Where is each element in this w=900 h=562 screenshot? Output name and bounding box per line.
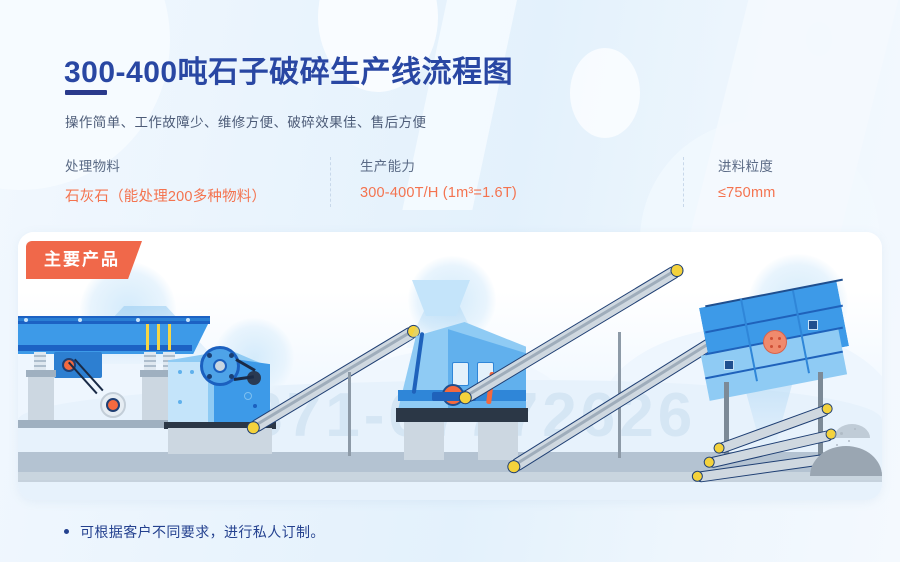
screen-exciter-bolt [770, 337, 773, 340]
spec-value: 300-400T/H (1m³=1.6T) [360, 185, 517, 201]
impact-panel [452, 362, 469, 386]
page-root: 300-400吨石子破碎生产线流程图 操作简单、工作故障少、维修方便、破碎效果佳… [0, 0, 900, 562]
feeder-pedestal-cap [26, 370, 56, 377]
feeder-bolt [136, 318, 140, 322]
feeder-idler-pulley [106, 398, 120, 412]
grizzly-bar [157, 324, 160, 350]
jaw-ring [244, 392, 252, 400]
screen-exciter-bolt [770, 345, 773, 348]
dust-speck [848, 440, 850, 442]
spec-label: 生产能力 [360, 155, 517, 175]
screen-exciter [763, 330, 787, 354]
jaw-flywheel-bolt [229, 353, 234, 358]
spec-row: 处理物料 石灰石（能处理200多种物料） 生产能力 300-400T/H (1m… [0, 155, 900, 210]
feeder-bolt [186, 318, 190, 322]
spec-label: 处理物料 [65, 155, 266, 175]
spec-item-material: 处理物料 石灰石（能处理200多种物料） [65, 155, 266, 206]
grizzly-bar [146, 324, 149, 350]
jaw-bolt [178, 370, 182, 374]
screen-sensor-box [808, 320, 818, 330]
dust-speck [840, 432, 843, 435]
page-subtitle: 操作简单、工作故障少、维修方便、破碎效果佳、售后方便 [65, 111, 426, 131]
screen-sensor-box [724, 360, 734, 370]
jaw-flywheel-bolt [207, 353, 212, 358]
jaw-bolt [178, 400, 182, 404]
title-underline [65, 90, 107, 95]
impact-pier [404, 422, 444, 460]
spec-item-capacity: 生产能力 300-400T/H (1m³=1.6T) [360, 155, 517, 201]
screen-exciter-bolt [778, 337, 781, 340]
impact-base-plate [396, 408, 528, 422]
dust-speck [854, 428, 856, 430]
feeder-bolt [78, 318, 82, 322]
spec-value: ≤750mm [718, 185, 776, 201]
jaw-flywheel-hub [213, 359, 227, 373]
bullet-icon [64, 529, 69, 534]
screen-exciter-bolt [778, 345, 781, 348]
dust-speck [836, 444, 838, 446]
spec-value: 石灰石（能处理200多种物料） [65, 185, 266, 206]
impact-pier [478, 422, 518, 460]
page-title: 300-400吨石子破碎生产线流程图 [64, 47, 513, 91]
grizzly-bar [168, 324, 171, 350]
feeder-bolt [24, 318, 28, 322]
feeder-pedestal [28, 374, 54, 422]
spec-label: 进料粒度 [718, 155, 776, 175]
jaw-bolt [253, 404, 257, 408]
illustration-panel: 0371-67772626 [18, 232, 882, 500]
footer-note: 可根据客户不同要求，进行私人订制。 [64, 522, 325, 542]
footer-note-text: 可根据客户不同要求，进行私人订制。 [80, 524, 325, 540]
jaw-flywheel-bolt [207, 374, 212, 379]
jaw-bolt [190, 370, 194, 374]
spec-item-feed-size: 进料粒度 ≤750mm [718, 155, 776, 201]
conveyor-support-leg [348, 372, 351, 456]
main-products-badge: 主要产品 [26, 241, 142, 279]
feeder-rail-hilite [18, 318, 210, 321]
